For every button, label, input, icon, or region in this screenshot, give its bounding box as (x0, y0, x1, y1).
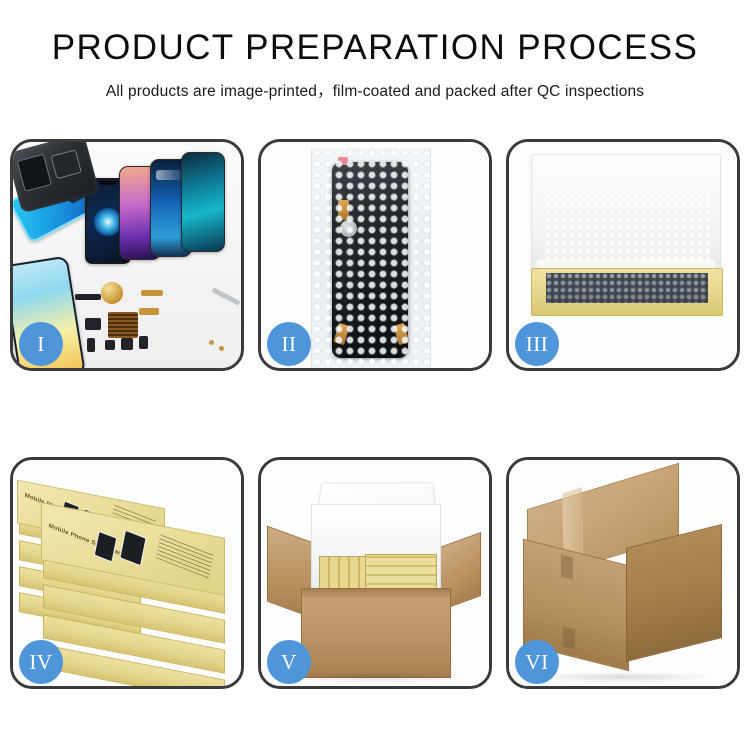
screw-set-2-icon (219, 346, 224, 351)
bubble-wrap-sleeve (311, 148, 431, 368)
step-2-image: II (261, 142, 489, 368)
flex-cable-part-icon (141, 290, 163, 296)
button-flex-part-icon (139, 308, 159, 315)
small-part-3-icon (121, 338, 133, 350)
box-lid-icon (531, 154, 721, 274)
box-art-phone-1 (94, 531, 118, 563)
step-5-image: V (261, 460, 489, 686)
process-step-1[interactable]: I (10, 139, 244, 371)
speaker-part-icon (101, 282, 123, 304)
carton-seam-2 (563, 627, 575, 650)
step-1-image: I (13, 142, 241, 368)
phone-teal-icon (181, 152, 225, 252)
step-4-image: Mobile Phone Spare Parts Mobile Phone Sp… (13, 460, 241, 686)
foam-sheet-icon (544, 191, 710, 263)
bubble-texture (312, 148, 430, 368)
small-part-2-icon (105, 340, 115, 350)
process-step-3[interactable]: III (506, 139, 740, 371)
carton-seam-1 (561, 555, 573, 580)
carton-side-face (626, 524, 722, 662)
packed-item-icon (546, 273, 708, 303)
process-step-5[interactable]: V (258, 457, 492, 689)
page-subtitle: All products are image-printed，film-coat… (0, 79, 750, 101)
page-header: PRODUCT PREPARATION PROCESS All products… (0, 0, 750, 101)
carton-body-icon (301, 588, 451, 678)
process-step-4[interactable]: Mobile Phone Spare Parts Mobile Phone Sp… (10, 457, 244, 689)
process-step-grid: I II (10, 139, 740, 689)
step-badge-3: III (515, 322, 559, 366)
drop-shadow (532, 672, 714, 682)
box-art-phone-2 (119, 530, 146, 567)
small-part-4-icon (139, 336, 148, 349)
step-badge-6: VI (515, 640, 559, 684)
screw-set-icon (209, 340, 214, 345)
process-step-2[interactable]: II (258, 139, 492, 371)
small-part-1-icon (87, 338, 95, 352)
mesh-part-icon (108, 312, 138, 338)
box-spec-lines (156, 532, 214, 579)
step-badge-2: II (267, 322, 311, 366)
camera-part-icon (85, 318, 101, 330)
gold-box-tray-icon (531, 268, 723, 316)
step-badge-4: IV (19, 640, 63, 684)
step-6-image: VI (509, 460, 737, 686)
page-title: PRODUCT PREPARATION PROCESS (0, 30, 750, 67)
connector-part-icon (75, 294, 101, 300)
step-badge-1: I (19, 322, 63, 366)
step-3-image: III (509, 142, 737, 368)
process-step-6[interactable]: VI (506, 457, 740, 689)
step-badge-5: V (267, 640, 311, 684)
drop-shadow (284, 672, 466, 682)
